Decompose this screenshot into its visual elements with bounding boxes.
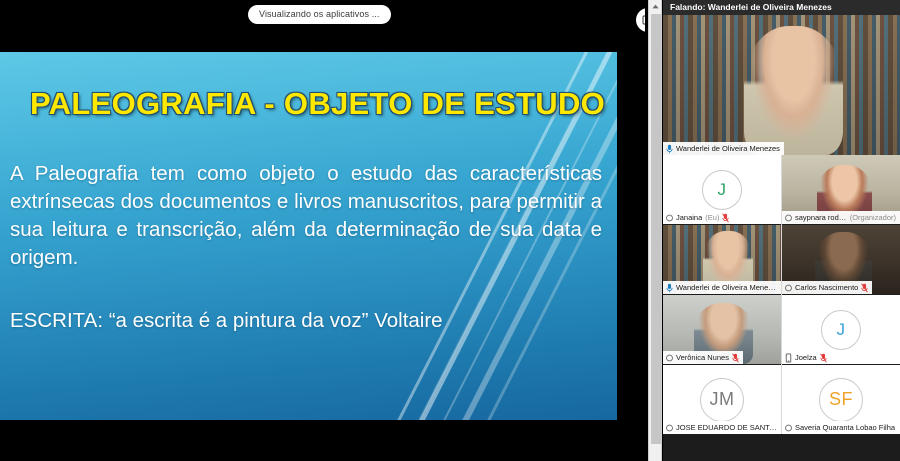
participant-video-feed [663,15,900,155]
tile-divider [781,155,782,434]
active-speaker-banner: Falando: Wanderlei de Oliveira Menezes [663,0,900,15]
participant-tile[interactable]: Wanderlei de Oliveira Menezes [663,15,900,155]
microphone-muted-icon [722,213,729,223]
participant-name: Saveria Quaranta Lobao Filha [795,423,895,432]
participant-namebar: JOSE EDUARDO DE SANTANA MACÊDO [663,421,781,434]
layout-icon [642,14,645,26]
participant-video-strip: Falando: Wanderlei de Oliveira Menezes W… [663,0,900,461]
shared-screen-area: Visualizando os aplicativos ... PALEOGRA… [0,0,645,461]
panel-scrollbar[interactable] [648,0,662,461]
participant-name: Wanderlei de Oliveira Menezes [676,144,780,153]
slide-quote-text: ESCRITA: “a escrita é a pintura da voz” … [10,307,602,335]
participant-name: Janaina [676,213,702,222]
microphone-muted-icon [732,353,739,363]
participant-namebar: saypnara rodrigue... (Organizador) [782,211,900,224]
phone-icon [785,353,792,363]
participant-tile[interactable]: saypnara rodrigue... (Organizador) [782,155,900,224]
participant-name: saypnara rodrigue... [795,213,847,222]
participant-tile-active-speaker[interactable]: Wanderlei de Oliveira Menezes [663,225,781,294]
participant-namebar: Joelza [782,351,831,364]
participant-namebar: Verônica Nunes [663,351,743,364]
microphone-off-outline-icon [785,283,792,293]
participant-role: (Eu) [705,213,719,222]
microphone-off-outline-icon [666,423,673,433]
microphone-off-outline-icon [785,423,792,433]
slide-title: PALEOGRAFIA - OBJETO DE ESTUDO [30,86,610,122]
participant-namebar: Saveria Quaranta Lobao Filha [782,421,899,434]
microphone-active-icon [666,144,673,154]
panel-layout-toggle-button[interactable] [636,8,645,32]
participant-tile[interactable]: SF Saveria Quaranta Lobao Filha [782,365,900,434]
avatar: SF [819,378,863,422]
participant-tile[interactable]: JM JOSE EDUARDO DE SANTANA MACÊDO [663,365,781,434]
participant-namebar: Carlos Nascimento [782,281,872,294]
participant-role: (Organizador) [850,213,896,222]
participant-tile[interactable]: Carlos Nascimento [782,225,900,294]
microphone-off-outline-icon [785,213,792,223]
sharing-status-pill: Visualizando os aplicativos ... [248,5,391,24]
participant-tile[interactable]: Verônica Nunes [663,295,781,364]
participant-tile[interactable]: J Janaina (Eu) [663,155,781,224]
participant-namebar: Wanderlei de Oliveira Menezes [663,142,784,155]
slide-paragraph: A Paleografia tem como objeto o estudo d… [10,160,602,272]
scroll-up-arrow[interactable] [649,0,661,13]
microphone-muted-icon [861,283,868,293]
participant-name: Verônica Nunes [676,353,729,362]
meeting-screen-share-window: Visualizando os aplicativos ... PALEOGRA… [0,0,900,461]
participant-tile[interactable]: J Joelza [782,295,900,364]
slide-body-text: A Paleografia tem como objeto o estudo d… [10,160,602,272]
avatar: J [702,170,742,210]
microphone-off-outline-icon [666,353,673,363]
participant-name: Wanderlei de Oliveira Menezes [676,283,777,292]
microphone-off-outline-icon [666,213,673,223]
microphone-active-icon [666,283,673,293]
avatar: J [821,310,861,350]
chevron-up-icon [652,4,659,9]
presentation-slide: PALEOGRAFIA - OBJETO DE ESTUDO A Paleogr… [0,52,617,420]
participant-namebar: Janaina (Eu) [663,211,733,224]
participant-name: JOSE EDUARDO DE SANTANA MACÊDO [676,423,777,432]
participant-name: Carlos Nascimento [795,283,858,292]
participant-name: Joelza [795,353,817,362]
participant-namebar: Wanderlei de Oliveira Menezes [663,281,781,294]
scrollbar-thumb[interactable] [651,14,661,444]
microphone-muted-icon [820,353,827,363]
avatar: JM [700,378,744,422]
